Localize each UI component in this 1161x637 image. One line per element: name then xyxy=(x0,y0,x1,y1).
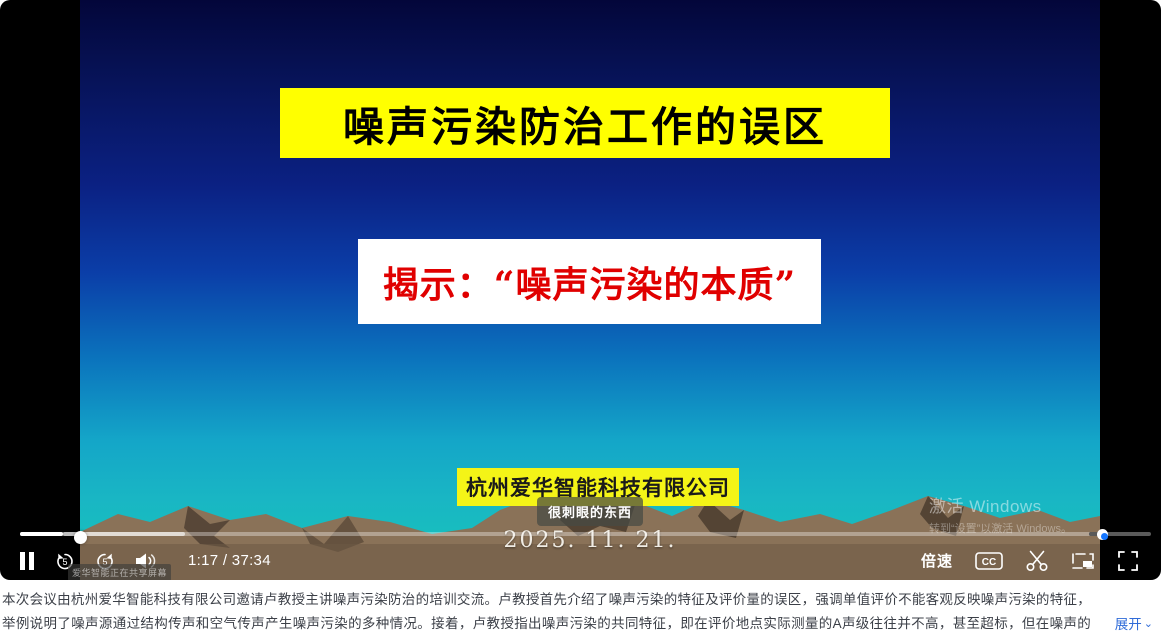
meeting-summary-panel: 本次会议由杭州爱华智能科技有限公司邀请卢教授主讲噪声污染防治的培训交流。卢教授首… xyxy=(0,586,1161,637)
fullscreen-icon xyxy=(1117,550,1139,572)
rewind-5s-icon: 5 xyxy=(54,550,76,572)
svg-text:5: 5 xyxy=(62,557,67,567)
slide-title: 噪声污染防治工作的误区 xyxy=(280,88,890,158)
volume-slider-handle[interactable] xyxy=(1097,529,1108,540)
volume-button[interactable] xyxy=(134,551,158,571)
progress-bar-track[interactable] xyxy=(20,532,1092,536)
player-controls-left[interactable]: 5 5 1:17 / 37:34 xyxy=(0,550,271,572)
volume-slider-track[interactable] xyxy=(1089,532,1151,536)
expand-summary-label: 展开 xyxy=(1115,613,1142,633)
progress-bar-fill xyxy=(20,532,63,536)
player-controls-right[interactable]: 倍速 CC xyxy=(921,550,1161,572)
cc-icon: CC xyxy=(975,551,1003,571)
video-player[interactable]: 噪声污染防治工作的误区 揭示：“噪声污染的本质” 杭州爱华智能科技有限公司 20… xyxy=(0,0,1161,580)
forward-5-button[interactable]: 5 xyxy=(94,550,116,572)
expand-summary-button[interactable]: 展开 ⌄ xyxy=(1105,613,1153,633)
captions-button[interactable]: CC xyxy=(975,551,1003,571)
volume-icon xyxy=(134,551,158,571)
time-display: 1:17 / 37:34 xyxy=(188,552,271,569)
fullscreen-button[interactable] xyxy=(1117,550,1139,572)
forward-5s-icon: 5 xyxy=(94,550,116,572)
scissors-icon xyxy=(1025,550,1049,572)
chevron-down-icon: ⌄ xyxy=(1144,617,1153,630)
svg-text:5: 5 xyxy=(102,557,107,567)
video-stage[interactable]: 噪声污染防治工作的误区 揭示：“噪声污染的本质” 杭州爱华智能科技有限公司 20… xyxy=(80,0,1100,580)
slide-subtitle: 揭示：“噪声污染的本质” xyxy=(358,239,821,324)
danmaku-comment: 很刺眼的东西 xyxy=(537,497,643,526)
pause-button[interactable] xyxy=(18,551,36,571)
picture-in-picture-button[interactable] xyxy=(1071,551,1095,571)
pip-icon xyxy=(1071,551,1095,571)
svg-text:CC: CC xyxy=(982,557,996,568)
player-control-bar[interactable]: 5 5 1:17 / 37:34 倍速 xyxy=(0,541,1161,580)
pause-icon xyxy=(18,551,36,571)
clip-button[interactable] xyxy=(1025,550,1049,572)
playback-speed-button[interactable]: 倍速 xyxy=(921,550,953,571)
meeting-summary-text: 本次会议由杭州爱华智能科技有限公司邀请卢教授主讲噪声污染防治的培训交流。卢教授首… xyxy=(2,588,1159,636)
progress-bar-row[interactable] xyxy=(0,527,1161,541)
rewind-5-button[interactable]: 5 xyxy=(54,550,76,572)
